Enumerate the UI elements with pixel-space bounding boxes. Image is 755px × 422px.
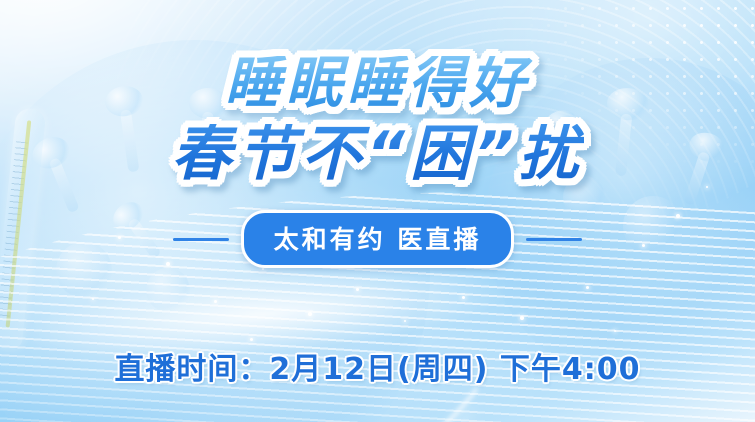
schedule-text: 直播时间：2月12日(周四) 下午4:00 bbox=[0, 344, 755, 388]
poster-title: 睡眠睡得好 春节不“困”扰 bbox=[171, 56, 583, 184]
title-line-2: 春节不“困”扰 bbox=[171, 124, 583, 184]
title-line-1: 睡眠睡得好 bbox=[171, 56, 583, 112]
subtitle-row: 太和有约 医直播 bbox=[173, 210, 583, 268]
live-stream-poster: 睡眠睡得好 春节不“困”扰 太和有约 医直播 直播时间：2月12日(周四) 下午… bbox=[0, 0, 755, 422]
subtitle-pill: 太和有约 医直播 bbox=[241, 210, 515, 268]
subtitle-rule-left bbox=[173, 238, 229, 241]
subtitle-rule-right bbox=[526, 238, 582, 241]
